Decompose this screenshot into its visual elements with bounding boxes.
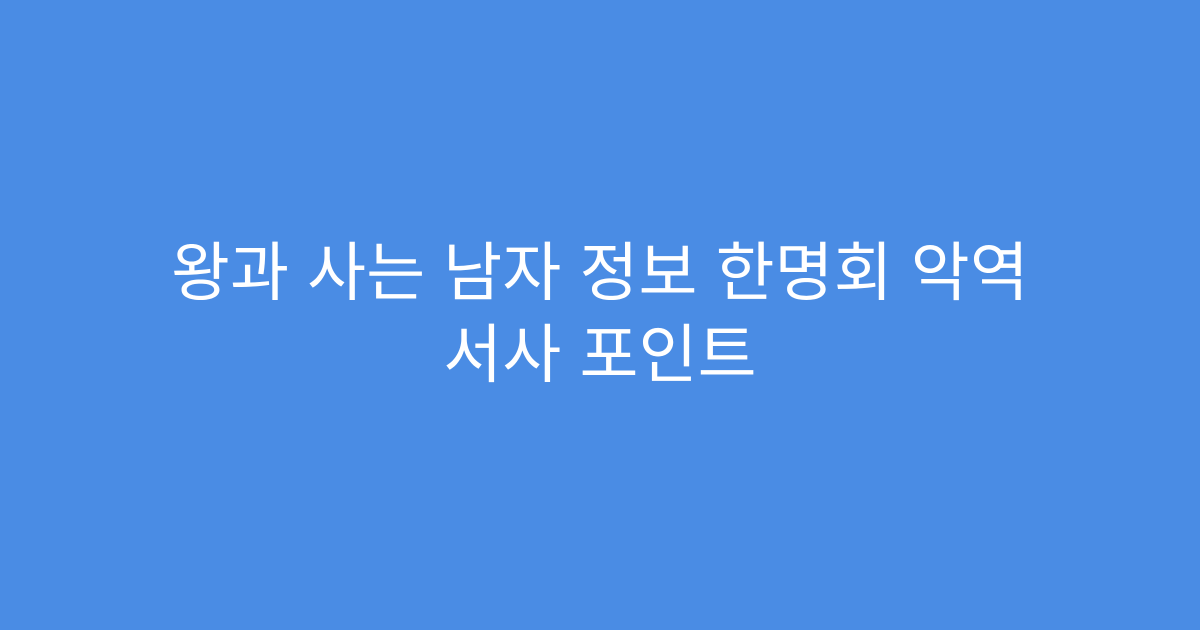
headline-container: 왕과 사는 남자 정보 한명회 악역 서사 포인트 [100, 233, 1100, 397]
share-card: 왕과 사는 남자 정보 한명회 악역 서사 포인트 [0, 0, 1200, 630]
page-title: 왕과 사는 남자 정보 한명회 악역 서사 포인트 [110, 233, 1090, 397]
